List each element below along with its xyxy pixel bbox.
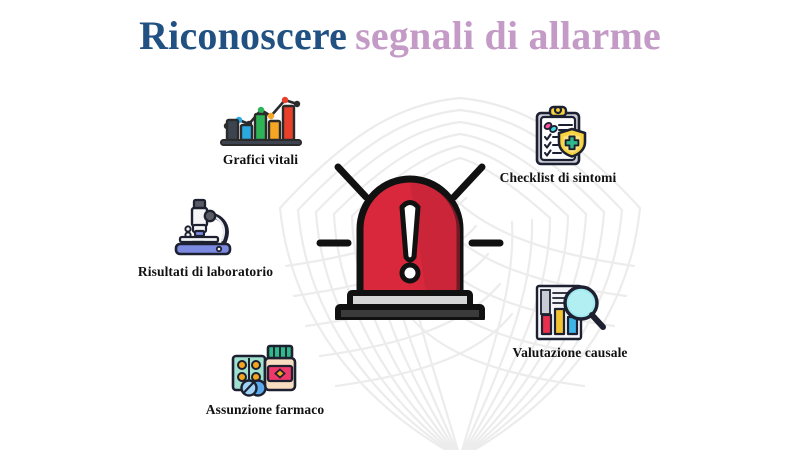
pills-blister-medicine-bottle-icon	[185, 336, 345, 400]
report-magnifying-glass-icon	[490, 281, 650, 343]
node-valutazione-causale[interactable]: Valutazione causale	[490, 281, 650, 361]
siren-exclamation-stroke	[402, 203, 418, 261]
siren-exclamation-dot	[402, 265, 418, 281]
siren-foot	[338, 307, 482, 320]
node-grafici-vitali[interactable]: Grafici vitali	[188, 92, 333, 168]
microscope-icon	[118, 194, 293, 262]
clipboard-checklist-shield-icon	[483, 104, 633, 168]
node-label: Checklist di sintomi	[483, 170, 633, 186]
page-title-part-secondary: segnali di allarme	[355, 13, 661, 58]
node-risultati-di-laboratorio[interactable]: Risultati di laboratorio	[118, 194, 293, 280]
node-label: Valutazione causale	[490, 345, 650, 361]
node-label: Risultati di laboratorio	[118, 264, 293, 280]
node-label: Assunzione farmaco	[185, 402, 345, 418]
page-title: Riconosceresegnali di allarme	[0, 14, 800, 58]
node-checklist-di-sintomi[interactable]: Checklist di sintomi	[483, 104, 633, 186]
node-assunzione-farmaco[interactable]: Assunzione farmaco	[185, 336, 345, 418]
bar-chart-line-graph-icon	[188, 92, 333, 150]
node-label: Grafici vitali	[188, 152, 333, 168]
page-title-part-primary: Riconoscere	[139, 13, 347, 58]
slide-canvas: Riconosceresegnali di allarme	[0, 0, 800, 450]
